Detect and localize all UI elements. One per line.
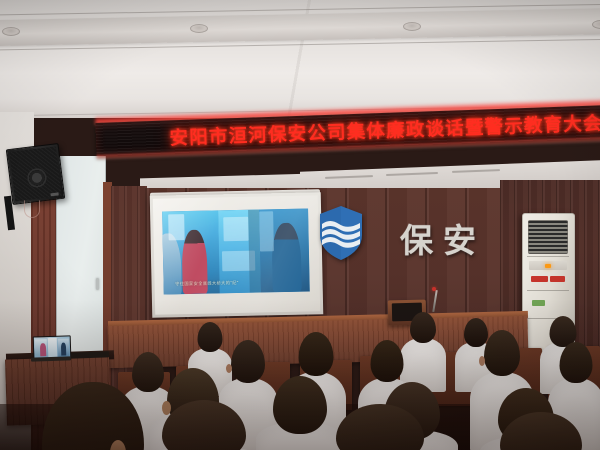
person-head — [560, 342, 593, 383]
video-window-light — [168, 214, 185, 240]
ac-control-panel[interactable] — [529, 261, 567, 270]
audience-member-closest — [300, 404, 460, 450]
ac-vent-grille — [528, 220, 568, 254]
downlight-icon — [2, 27, 20, 36]
video-backlight — [259, 211, 274, 251]
microphone-head-icon — [432, 287, 436, 291]
speaker-cable — [24, 200, 40, 218]
video-cabinet — [223, 217, 248, 242]
person-head — [371, 340, 404, 382]
ac-seam — [527, 290, 569, 291]
downlight-icon — [403, 22, 421, 31]
person-ear — [479, 356, 485, 366]
person-head — [299, 332, 334, 376]
downlight-icon — [190, 24, 208, 33]
person-head — [336, 404, 424, 450]
shield-waves-icon — [318, 205, 364, 261]
person-head — [500, 412, 582, 450]
wall-logo-text: 保安 — [400, 214, 486, 262]
ac-warning-label — [550, 276, 565, 282]
person-head — [162, 400, 246, 450]
audience-member-closest — [470, 412, 600, 450]
projected-video: 守住国家安全底线大桥大的"纪" — [162, 208, 310, 294]
person-head — [484, 330, 520, 376]
person-head — [410, 312, 436, 343]
wall-speaker — [6, 143, 65, 205]
video-pane-officer — [259, 208, 310, 292]
ac-seam — [527, 256, 569, 257]
ac-power-indicator — [545, 264, 551, 268]
desk-equipment-strip — [71, 351, 109, 358]
door-handle[interactable] — [96, 278, 99, 290]
ac-warning-label — [531, 276, 548, 282]
projection-screen: 守住国家安全底线大桥大的"纪" — [150, 192, 324, 318]
ac-energy-label — [532, 300, 545, 306]
audience-member-closest — [128, 400, 278, 450]
presenter-laptop[interactable] — [33, 335, 70, 358]
projection-screen-surface: 守住国家安全底线大桥大的"纪" — [153, 195, 320, 314]
conference-hall-photo: 安阳市洹河保安公司集体廉政谈话暨警示教育大会 — [0, 0, 600, 450]
video-figure-officer — [271, 223, 301, 293]
